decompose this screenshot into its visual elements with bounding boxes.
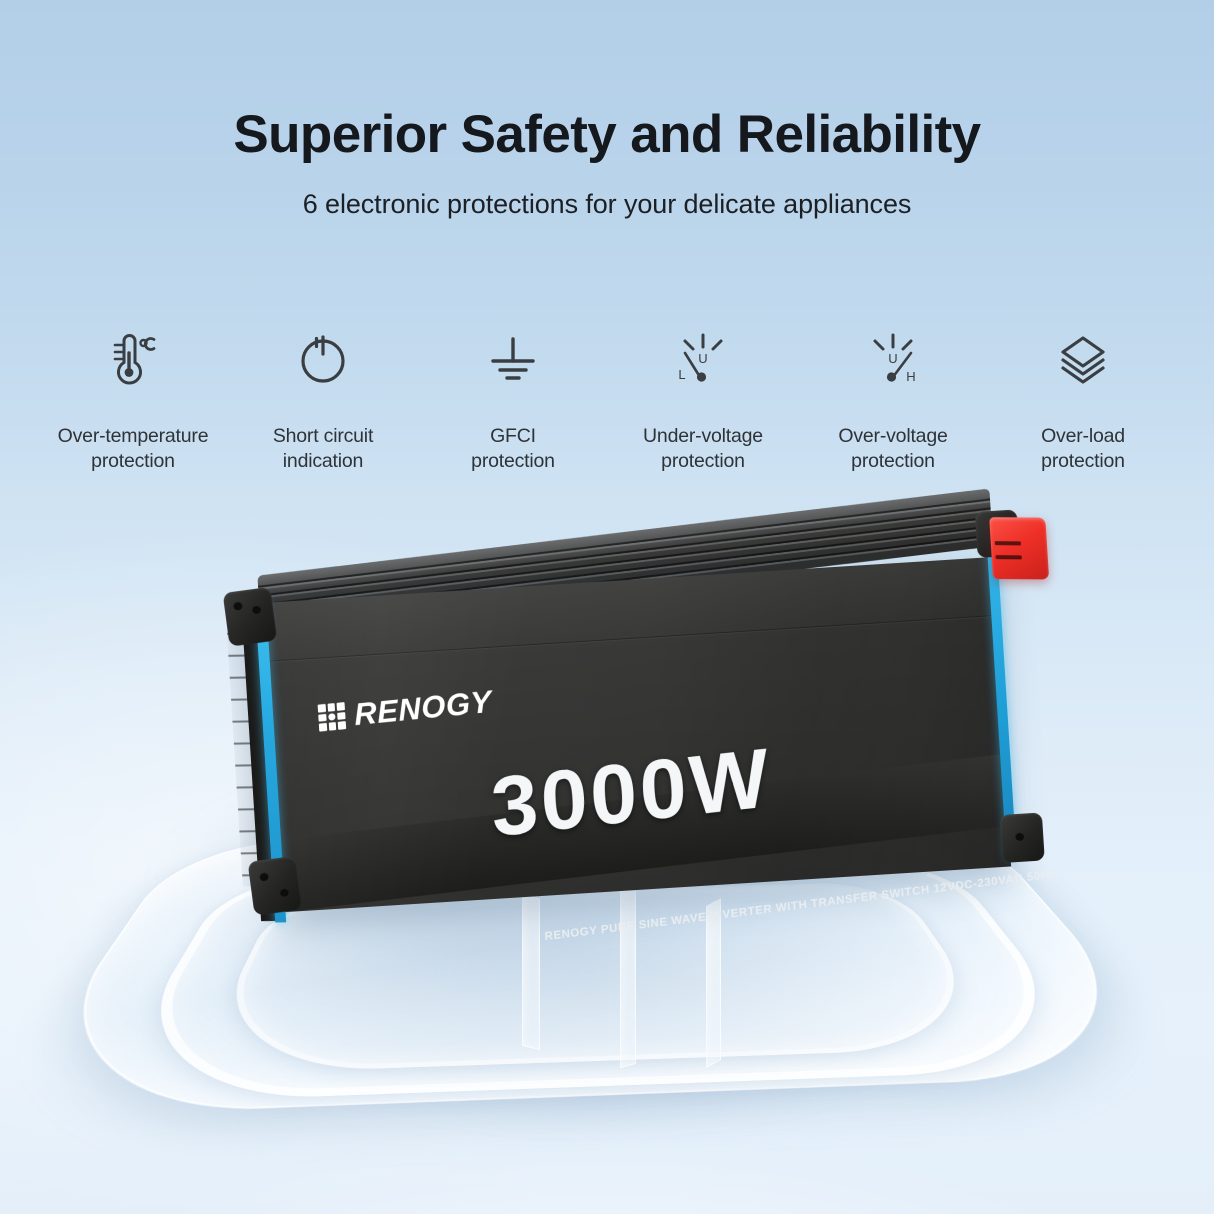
gauge-high-label: H [906,369,915,384]
renogy-grid-logo-icon [318,702,347,732]
feature-over-load: Over-load protection [988,326,1178,474]
protection-feature-row: Over-temperature protection Short circui… [38,326,1178,474]
feature-label: Over-load protection [1041,424,1125,474]
page-title: Superior Safety and Reliability [0,106,1214,163]
red-positive-terminal-cover [989,517,1049,579]
mounting-bracket-bottom-left [248,856,303,916]
feature-gfci: GFCI protection [418,326,608,474]
feature-short-circuit: Short circuit indication [228,326,418,474]
feature-over-voltage: U H Over-voltage protection [798,326,988,474]
feature-label: Over-voltage protection [838,424,947,474]
product-marketing-banner: Superior Safety and Reliability 6 electr… [0,0,1214,1214]
feature-label: Under-voltage protection [643,424,763,474]
thermometer-celsius-icon [102,326,164,390]
feature-under-voltage: U L Under-voltage protection [608,326,798,474]
gauge-low-voltage-icon: U L [670,326,736,390]
feature-label: GFCI protection [471,424,555,474]
earth-ground-icon [482,326,544,390]
page-subtitle: 6 electronic protections for your delica… [0,189,1214,220]
mounting-bracket-bottom-right [1000,812,1045,863]
power-symbol-icon [292,326,354,390]
gauge-unit-label: U [698,351,707,366]
product-photo-scene: RENOGY 3000W RENOGY PURE SINE WAVE INVER… [0,470,1214,1214]
gauge-low-label: L [678,367,685,382]
gauge-high-voltage-icon: U H [860,326,926,390]
feature-over-temperature: Over-temperature protection [38,326,228,474]
feature-label: Over-temperature protection [58,424,209,474]
mounting-bracket-top-left [223,587,278,647]
stacked-layers-icon [1052,326,1114,390]
inverter-product: RENOGY 3000W RENOGY PURE SINE WAVE INVER… [219,493,1044,972]
gauge-unit-label: U [888,351,897,366]
feature-label: Short circuit indication [273,424,373,474]
header-block: Superior Safety and Reliability 6 electr… [0,106,1214,220]
